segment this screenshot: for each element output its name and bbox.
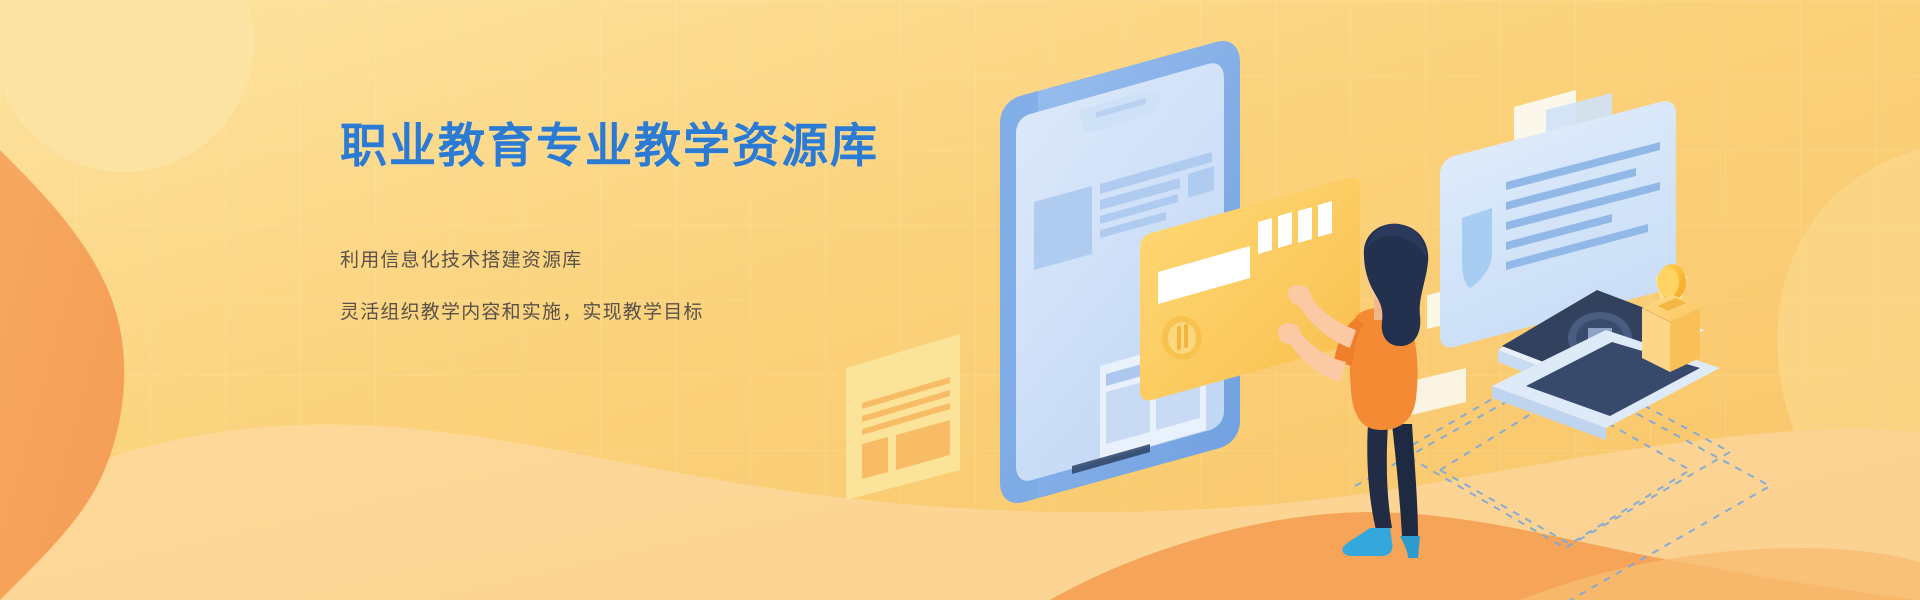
content-card-yellow (846, 334, 960, 500)
person-shoe-back (1400, 536, 1420, 558)
page-title: 职业教育专业教学资源库 (340, 118, 980, 173)
person-leg-back (1392, 424, 1418, 538)
hero-banner: 职业教育专业教学资源库 利用信息化技术搭建资源库 灵活组织教学内容和实施，实现教… (0, 0, 1920, 600)
person-leg-front (1367, 424, 1392, 530)
banner-subtitle-2: 灵活组织教学内容和实施，实现教学目标 (340, 299, 980, 328)
person-shoe-front (1342, 528, 1392, 556)
banner-subtitle-1: 利用信息化技术搭建资源库 (340, 247, 980, 276)
card-chip-icon (1162, 316, 1202, 360)
banner-text-block: 职业教育专业教学资源库 利用信息化技术搭建资源库 灵活组织教学内容和实施，实现教… (340, 118, 980, 327)
